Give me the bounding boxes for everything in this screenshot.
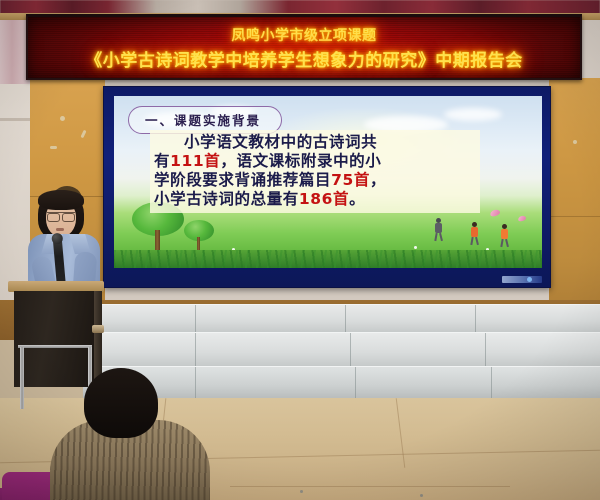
audience-hair xyxy=(84,368,158,438)
slide-accent-number: 75首 xyxy=(331,171,370,189)
child-figure-icon xyxy=(500,224,510,247)
projection-screen: 一、课题实施背景 xyxy=(103,86,551,288)
slide-accent-number: 111首 xyxy=(170,152,220,170)
slide-text-segment: ，语文课标附录中的小 xyxy=(220,152,381,170)
stage-step xyxy=(90,332,600,368)
left-wall-trim xyxy=(0,118,34,121)
kite-icon xyxy=(489,209,500,218)
slide-text-line: 小学古诗词的总量有186首。 xyxy=(154,190,476,209)
slide-text-segment: 小学语文教材中的古诗词共 xyxy=(184,133,377,151)
slide-text-line: 学阶段要求背诵推荐篇目75首， xyxy=(154,171,476,190)
child-figure-icon xyxy=(470,222,480,246)
led-banner: 凤鸣小学市级立项课题 《小学古诗词教学中培养学生想象力的研究》中期报告会 xyxy=(26,14,582,80)
cloud-icon xyxy=(444,108,502,121)
slide-text-segment: 学阶段要求背诵推荐篇目 xyxy=(154,171,331,189)
stage-step xyxy=(95,304,600,334)
glasses-icon xyxy=(47,212,75,219)
ceiling-curtain xyxy=(0,0,600,14)
audience-member xyxy=(50,368,210,500)
slide-text-line: 有111首，语文课标附录中的小 xyxy=(154,152,476,171)
podium-knob xyxy=(92,325,104,333)
projector-logo-icon xyxy=(502,276,542,283)
mouth xyxy=(56,228,64,231)
presentation-photo-scene: 凤鸣小学市级立项课题 《小学古诗词教学中培养学生想象力的研究》中期报告会 一、课… xyxy=(0,0,600,500)
slide-text-line: 小学语文教材中的古诗词共 xyxy=(154,133,476,152)
slide-accent-number: 186首 xyxy=(299,190,349,208)
slide-content: 一、课题实施背景 xyxy=(114,96,542,268)
slide-body-text: 小学语文教材中的古诗词共 有111首，语文课标附录中的小 学阶段要求背诵推荐篇目… xyxy=(150,130,480,213)
grass-foreground xyxy=(114,250,542,268)
podium-leg xyxy=(20,347,24,409)
hair-fringe xyxy=(38,190,84,210)
child-figure-icon xyxy=(434,218,444,244)
slide-text-segment: 有 xyxy=(154,152,170,170)
led-banner-line-1: 凤鸣小学市级立项课题 xyxy=(232,25,377,45)
slide-text-segment: ， xyxy=(370,171,386,189)
kite-icon xyxy=(517,215,526,222)
tree-small-icon xyxy=(184,220,214,252)
podium-rail xyxy=(18,345,92,348)
slide-text-segment: 。 xyxy=(349,190,365,208)
slide-text-segment: 小学古诗词的总量有 xyxy=(154,190,299,208)
led-banner-line-2: 《小学古诗词教学中培养学生想象力的研究》中期报告会 xyxy=(85,46,523,71)
